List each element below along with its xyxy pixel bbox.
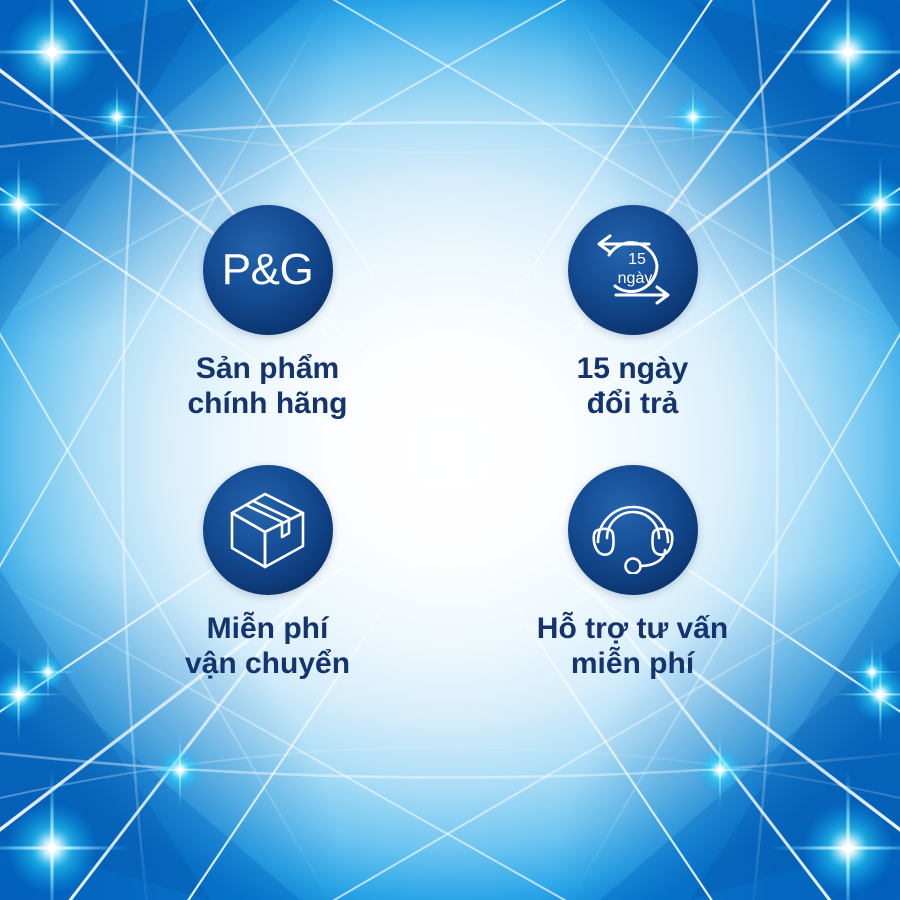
label-line-1: 15 ngày (577, 351, 689, 386)
feature-free-consulting[interactable]: Hỗ trợ tư vấn miễn phí (515, 465, 750, 705)
feature-free-shipping[interactable]: Miễn phí vận chuyển (150, 465, 385, 705)
label-line-1: Hỗ trợ tư vấn (537, 611, 728, 646)
feature-label-authentic-product: Sản phẩm chính hãng (188, 351, 348, 421)
feature-label-free-consulting: Hỗ trợ tư vấn miễn phí (537, 611, 728, 681)
pg-logo-icon-circle: P&G (203, 205, 333, 335)
promo-banner: P&G Sản phẩm chính hãng (0, 0, 900, 900)
feature-return-policy[interactable]: 15 ngày 15 ngày đổi trả (515, 205, 750, 445)
label-line-1: Sản phẩm (188, 351, 348, 386)
label-line-2: chính hãng (188, 386, 348, 421)
return-icon-circle: 15 ngày (568, 205, 698, 335)
return-days-number: 15 (628, 251, 646, 268)
return-arrows-icon: 15 ngày (585, 222, 681, 318)
package-box-icon (225, 487, 311, 573)
pg-logo-icon: P&G (222, 248, 313, 292)
label-line-2: vận chuyển (185, 646, 350, 681)
return-days-unit: ngày (617, 270, 652, 287)
shipping-icon-circle (203, 465, 333, 595)
label-line-2: miễn phí (537, 646, 728, 681)
feature-label-return-policy: 15 ngày đổi trả (577, 351, 689, 421)
consulting-icon-circle (568, 465, 698, 595)
feature-authentic-product[interactable]: P&G Sản phẩm chính hãng (150, 205, 385, 445)
feature-grid: P&G Sản phẩm chính hãng (150, 205, 750, 705)
label-line-2: đổi trả (577, 386, 689, 421)
headset-icon (589, 486, 677, 574)
feature-label-free-shipping: Miễn phí vận chuyển (185, 611, 350, 681)
label-line-1: Miễn phí (185, 611, 350, 646)
